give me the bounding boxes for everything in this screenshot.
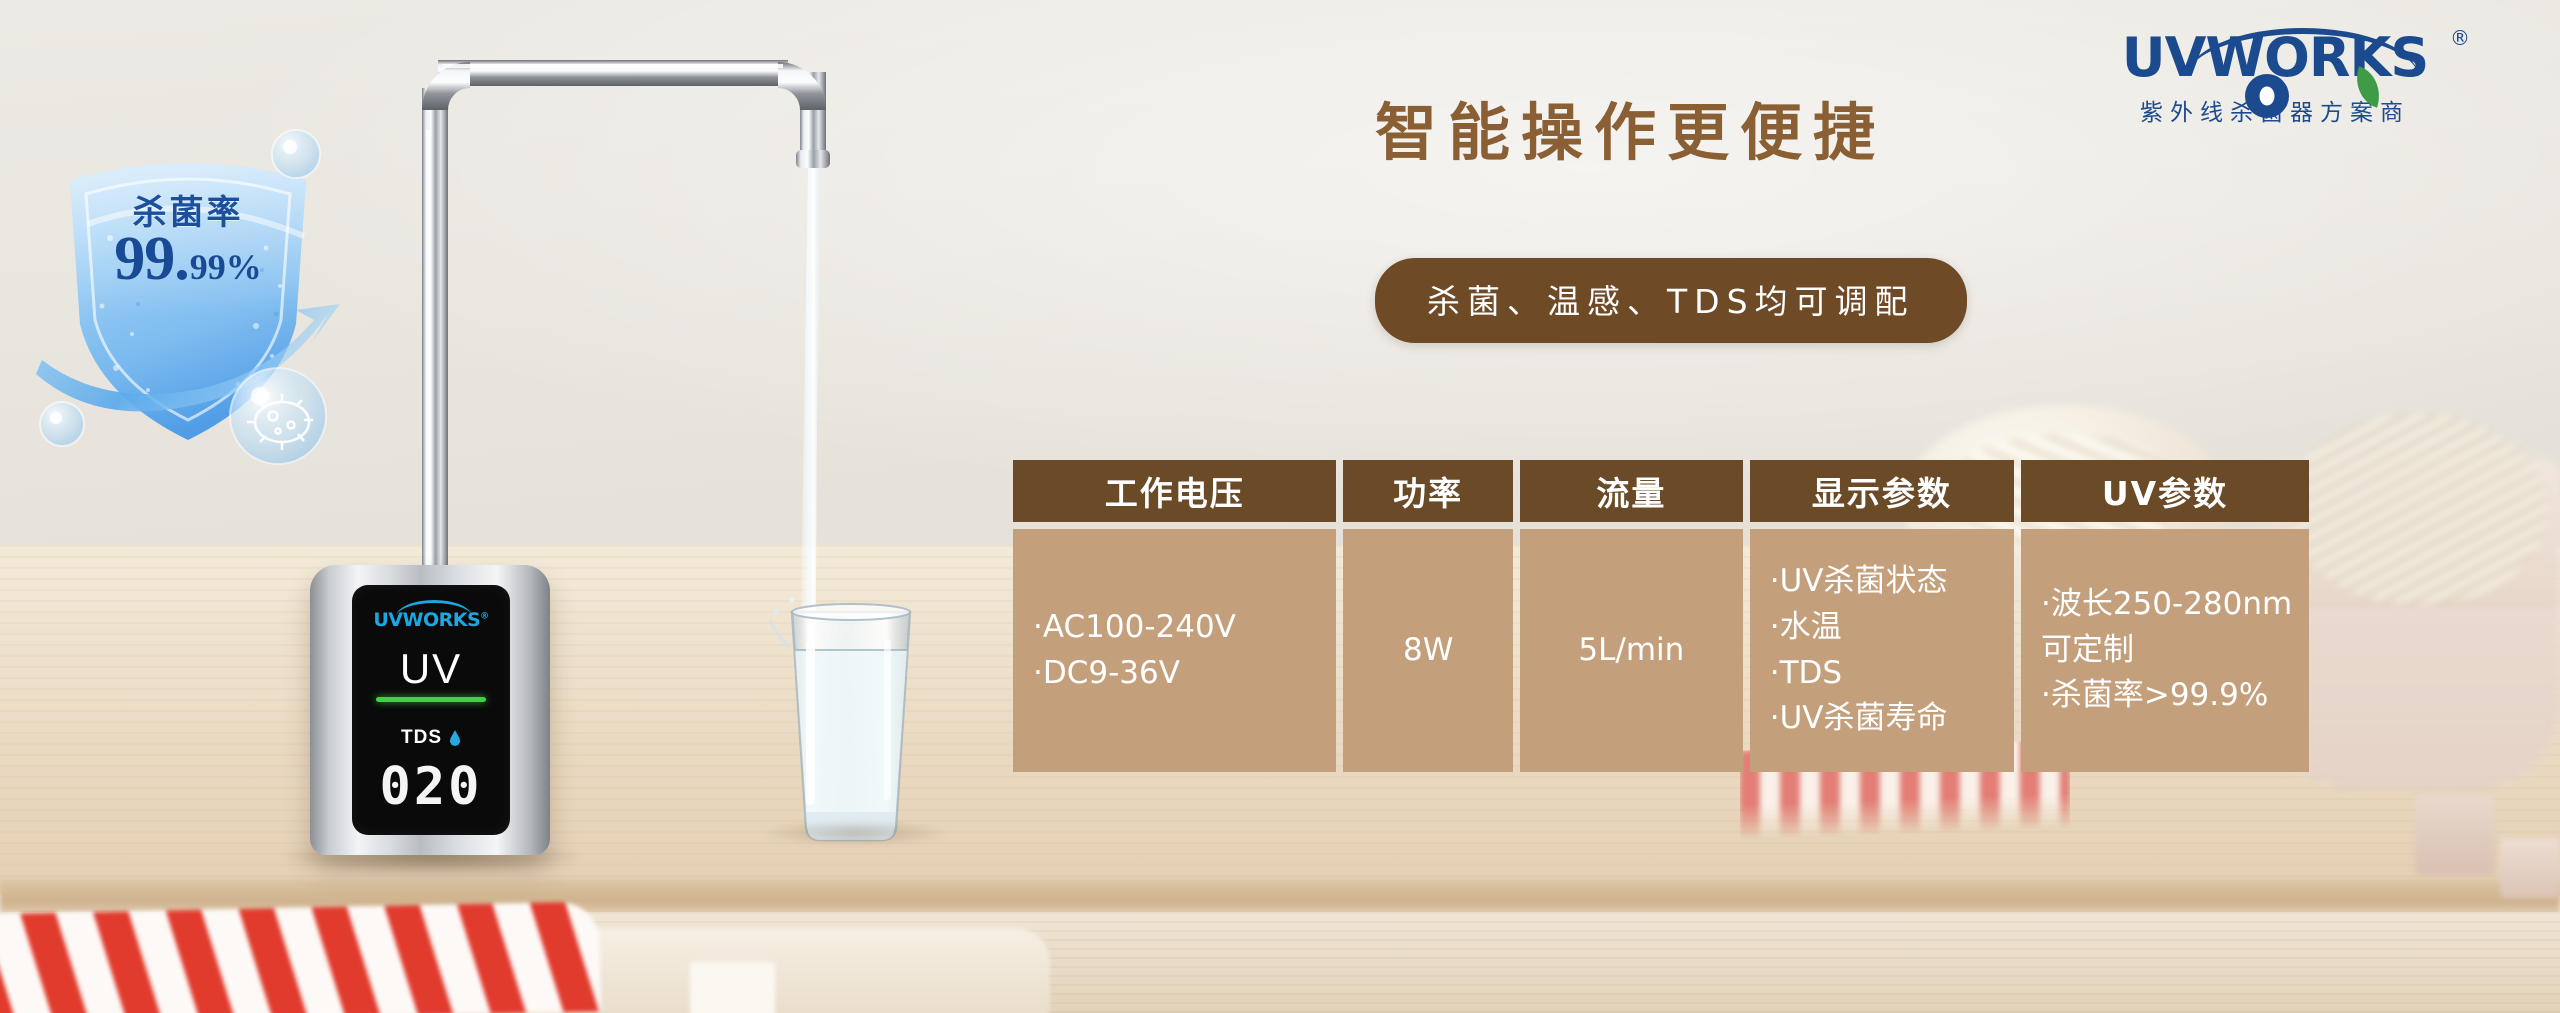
spec-column-voltage: 工作电压 ·AC100-240V ·DC9-36V	[1013, 460, 1336, 772]
spec-header: 流量	[1520, 460, 1743, 522]
spec-cell: ·UV杀菌状态 ·水温 ·TDS ·UV杀菌寿命	[1750, 529, 2014, 772]
device-tds-label: TDS	[401, 727, 442, 748]
device-mode-label: UV	[352, 645, 510, 693]
spec-header: 显示参数	[1750, 460, 2014, 522]
spec-column-uv: UV参数 ·波长250-280nm 可定制 ·杀菌率>99.9%	[2021, 460, 2309, 772]
wood-block-prop-1	[2415, 795, 2495, 875]
water-drop-icon	[449, 730, 461, 746]
badge-value: 99.99%	[28, 228, 348, 290]
spec-line: ·水温	[1770, 605, 1842, 651]
device-status-bar	[376, 697, 486, 702]
glass-shadow	[760, 820, 950, 846]
device-tds-row: TDS	[352, 727, 510, 749]
uv-sterilizer-device: UVWORKS® UV TDS 020	[310, 565, 550, 855]
badge-value-dot: .	[174, 225, 190, 293]
spec-cell: 8W	[1343, 529, 1513, 772]
brand-logo-sunburst-icon	[2245, 74, 2289, 118]
sugar-cube-prop	[690, 962, 775, 1013]
shield-icon	[28, 128, 348, 458]
feature-pill: 杀菌、温感、TDS均可调配	[1375, 258, 1967, 343]
registered-mark-icon: ®	[2450, 28, 2469, 49]
spec-line: ·TDS	[1770, 651, 1842, 697]
badge-value-minor: 99%	[190, 247, 262, 287]
spec-cell: ·AC100-240V ·DC9-36V	[1013, 529, 1336, 772]
spec-cell: ·波长250-280nm 可定制 ·杀菌率>99.9%	[2021, 529, 2309, 772]
spec-line: ·AC100-240V	[1033, 605, 1236, 651]
spec-line: 8W	[1403, 628, 1453, 674]
spec-line: 可定制	[2041, 628, 2134, 674]
basket-prop	[2270, 460, 2560, 790]
spec-cell: 5L/min	[1520, 529, 1743, 772]
device-logo-arc-icon	[396, 600, 472, 617]
spec-table: 工作电压 ·AC100-240V ·DC9-36V 功率 8W 流量 5L/mi…	[1013, 460, 2309, 772]
badge-value-major: 99	[114, 225, 174, 293]
device-display-screen[interactable]: UVWORKS® UV TDS 020	[352, 585, 510, 835]
spec-line: 5L/min	[1578, 628, 1684, 674]
brand-logo-wordmark: UVWORKS ®	[2085, 30, 2465, 87]
spec-line: ·DC9-36V	[1033, 651, 1180, 697]
spec-column-flow: 流量 5L/min	[1520, 460, 1743, 772]
spec-line: ·UV杀菌寿命	[1770, 696, 1948, 742]
spec-line: ·杀菌率>99.9%	[2041, 673, 2268, 719]
device-logo-registered-mark: ®	[480, 612, 489, 622]
device-brand-logo: UVWORKS®	[352, 609, 510, 631]
spec-line: ·UV杀菌状态	[1770, 559, 1948, 605]
sterilization-rate-badge: 杀菌率 99.99%	[28, 128, 348, 458]
spec-column-display: 显示参数 ·UV杀菌状态 ·水温 ·TDS ·UV杀菌寿命	[1750, 460, 2014, 772]
brand-logo[interactable]: UVWORKS ® 紫外线杀菌器方案商	[2085, 30, 2465, 150]
wood-block-prop-2	[2500, 838, 2560, 898]
spec-header: 工作电压	[1013, 460, 1336, 522]
spec-column-power: 功率 8W	[1343, 460, 1513, 772]
checkered-cloth-left-prop	[0, 902, 601, 1013]
spec-line: ·波长250-280nm	[2041, 582, 2292, 628]
device-tds-value: 020	[352, 757, 510, 817]
spec-header: UV参数	[2021, 460, 2309, 522]
spec-header: 功率	[1343, 460, 1513, 522]
banner-canvas: UVWORKS® UV TDS 020	[0, 0, 2560, 1013]
plate-prop	[530, 928, 1050, 1013]
page-title: 智能操作更便捷	[1375, 82, 1886, 172]
